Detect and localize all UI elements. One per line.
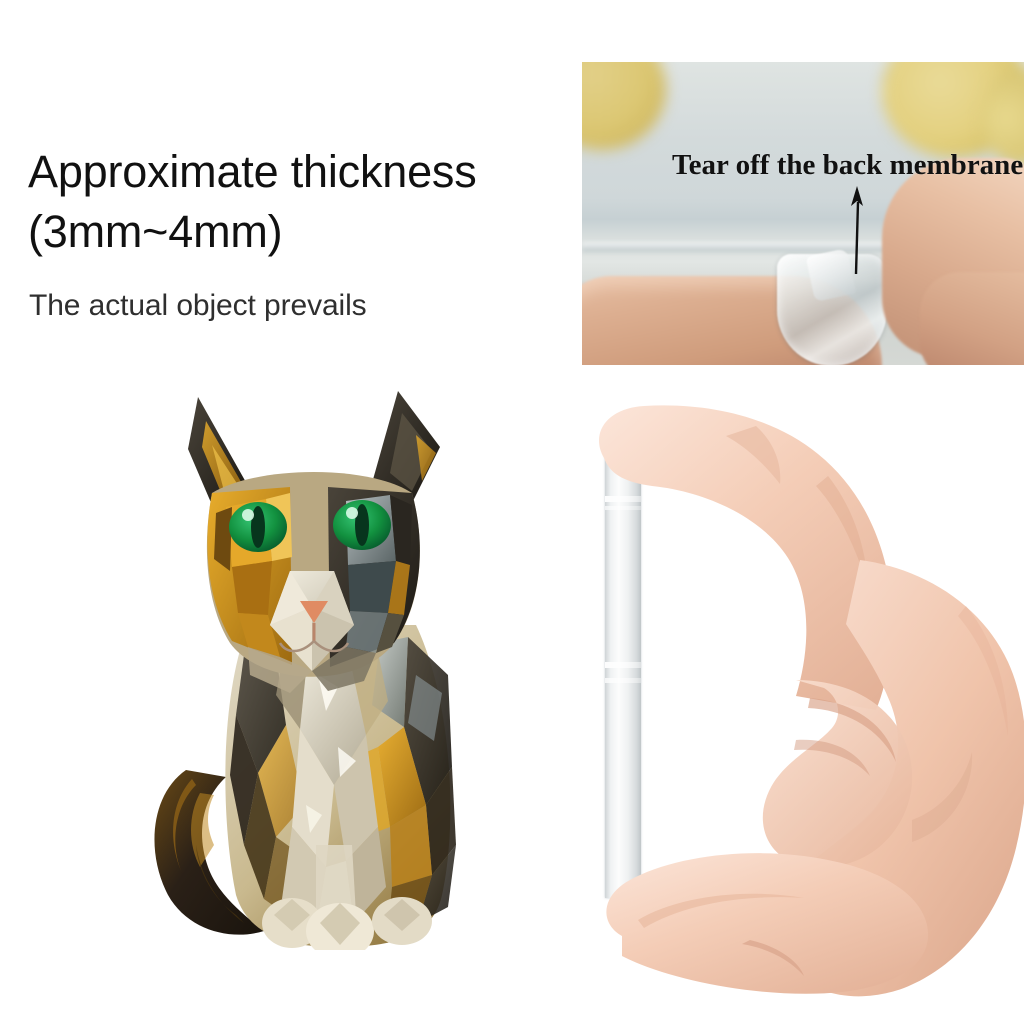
crystal-cat-figurine	[140, 375, 500, 950]
product-detail-image: Approximate thickness (3mm~4mm) The actu…	[0, 0, 1024, 1024]
index-finger	[599, 405, 892, 710]
page-title: Approximate thickness (3mm~4mm)	[28, 142, 588, 262]
inset-instruction-photo: Tear off the back membrane	[582, 62, 1024, 365]
cat-eye-left	[229, 502, 287, 552]
hand-illustration	[560, 380, 1024, 1020]
hand-thickness-demo	[560, 380, 1024, 1020]
inset-caption: Tear off the back membrane	[672, 149, 1023, 181]
cat-eye-right	[333, 500, 391, 550]
callout-arrow-icon	[846, 184, 868, 274]
page-subtitle: The actual object prevails	[29, 286, 367, 326]
inset-finger-right-lower	[920, 272, 1024, 365]
